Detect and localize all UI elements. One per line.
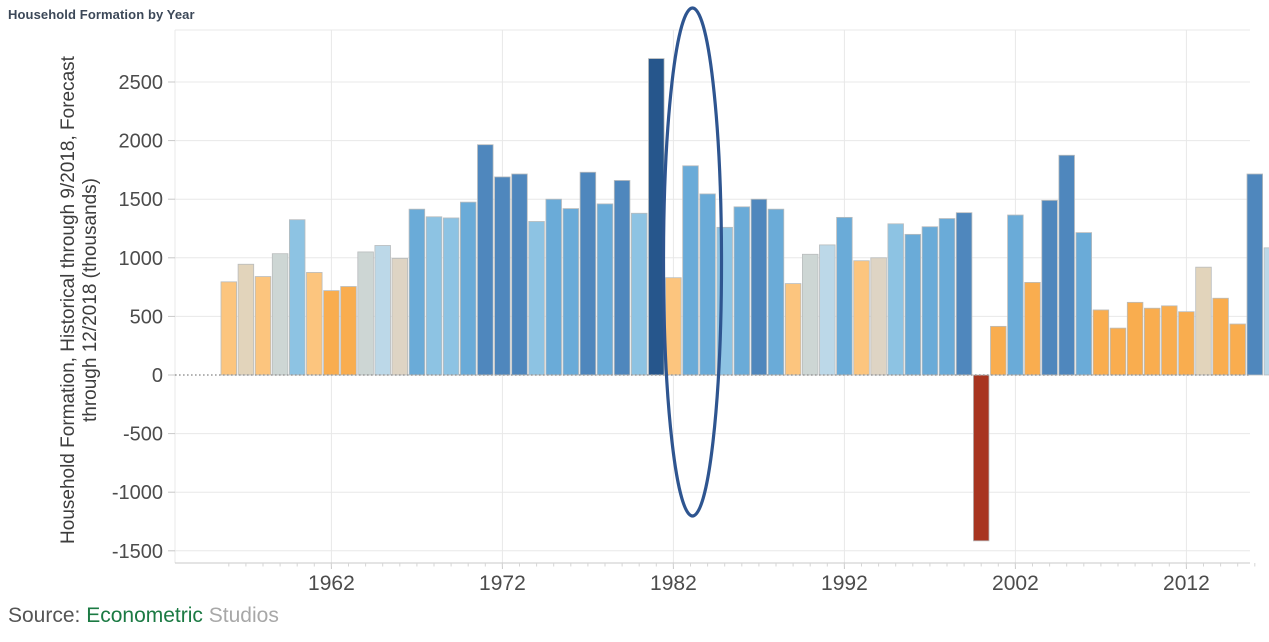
source-prefix: Source: <box>8 604 80 627</box>
zero-line <box>175 375 1250 563</box>
bar <box>529 221 545 375</box>
bar <box>221 282 237 375</box>
bar <box>888 224 904 375</box>
bar <box>580 172 596 375</box>
bar <box>751 199 767 375</box>
bar <box>939 219 955 375</box>
y-tick-label: 1000 <box>119 248 164 270</box>
x-tick-label: 1992 <box>821 572 868 595</box>
bar <box>443 218 459 375</box>
bar <box>324 291 340 375</box>
x-axis-tick-labels: 1962197219821992200220122022 <box>229 563 1269 595</box>
bar <box>512 174 528 375</box>
source-studios: Studios <box>209 604 279 627</box>
bar <box>768 209 784 375</box>
bar <box>460 202 476 375</box>
bar <box>341 287 357 375</box>
y-tick-label: 2500 <box>119 72 164 94</box>
bar <box>1059 155 1075 375</box>
bar <box>1144 308 1160 375</box>
y-tick-label: 0 <box>152 365 163 387</box>
bar <box>1076 233 1092 375</box>
bar <box>1008 215 1024 375</box>
bar <box>563 209 579 375</box>
bar <box>973 375 989 541</box>
bar <box>837 217 853 375</box>
x-tick-label: 2002 <box>992 572 1039 595</box>
y-tick-label: -1500 <box>112 541 163 563</box>
y-tick-label: 2000 <box>119 131 164 153</box>
x-tick-label: 1972 <box>479 572 526 595</box>
bar <box>922 227 938 375</box>
y-tick-label: 1500 <box>119 189 164 211</box>
bar <box>956 213 972 375</box>
bar <box>1247 174 1263 375</box>
source-caption: Source: Econometric Studios <box>8 604 279 628</box>
bar <box>409 209 425 375</box>
bar <box>1127 302 1143 375</box>
bar <box>597 204 613 375</box>
y-tick-label: -500 <box>123 424 163 446</box>
bar <box>358 252 374 375</box>
bar <box>802 254 818 375</box>
bar <box>1264 248 1269 375</box>
source-brand: Econometric <box>86 604 203 627</box>
bar <box>307 272 323 375</box>
bar <box>1213 298 1229 375</box>
bar <box>238 264 254 375</box>
bar <box>649 59 665 375</box>
bar <box>854 261 870 375</box>
y-axis-tick-labels: 25002000150010005000-500-1000-1500 <box>112 72 175 563</box>
bar <box>1042 200 1058 375</box>
bar <box>683 166 699 375</box>
y-tick-label: -1000 <box>112 482 163 504</box>
bar <box>734 207 750 375</box>
bar-series <box>221 59 1269 541</box>
bar <box>289 220 305 375</box>
bar <box>700 194 716 375</box>
bar <box>392 258 408 375</box>
bar <box>871 258 887 375</box>
plot-canvas: 25002000150010005000-500-1000-1500 19621… <box>0 0 1269 642</box>
bar <box>820 245 836 375</box>
bar <box>785 284 801 375</box>
x-tick-label: 1962 <box>308 572 355 595</box>
bar <box>666 278 682 375</box>
bar <box>1162 306 1178 375</box>
bar <box>1110 328 1126 375</box>
bar <box>614 180 630 375</box>
bar <box>1196 267 1212 375</box>
bar <box>631 213 647 375</box>
x-tick-label: 2012 <box>1163 572 1210 595</box>
bar <box>1230 324 1246 375</box>
bar <box>478 145 494 375</box>
bar <box>1093 310 1109 375</box>
bar <box>1025 282 1041 375</box>
bar <box>426 217 442 375</box>
bar <box>495 177 511 375</box>
x-tick-label: 1982 <box>650 572 697 595</box>
bar <box>991 326 1007 375</box>
y-tick-label: 500 <box>130 306 163 328</box>
chart-root: Household Formation by Year Household Fo… <box>0 0 1269 642</box>
bar <box>375 245 391 375</box>
bar <box>1179 312 1195 375</box>
bar <box>546 199 562 375</box>
bar <box>255 277 271 375</box>
bar <box>905 234 921 375</box>
bar <box>272 254 288 375</box>
